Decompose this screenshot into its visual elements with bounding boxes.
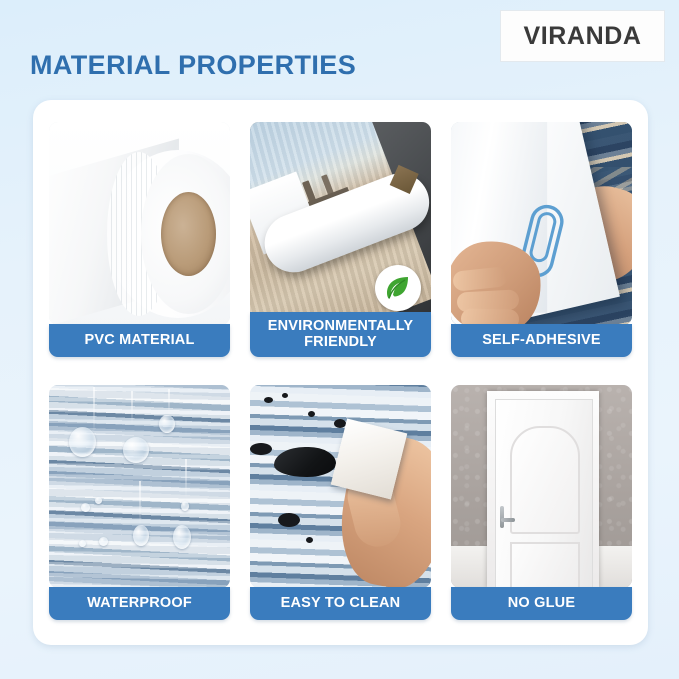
feature-label-pvc-material: PVC MATERIAL <box>49 324 230 357</box>
feature-tile-waterproof[interactable]: WATERPROOF <box>49 385 230 620</box>
wiping-cloth-image <box>250 385 431 588</box>
feature-tile-environmentally-friendly[interactable]: ENVIRONMENTALLY FRIENDLY <box>250 122 431 357</box>
door-handle-icon <box>500 506 504 528</box>
water-droplets-image <box>49 385 230 588</box>
feature-label-self-adhesive: SELF-ADHESIVE <box>451 324 632 357</box>
feature-label-environmentally-friendly: ENVIRONMENTALLY FRIENDLY <box>250 312 431 357</box>
leaf-icon <box>383 273 413 303</box>
feature-label-text: ENVIRONMENTALLY FRIENDLY <box>250 319 431 349</box>
green-leaf-badge <box>375 265 421 311</box>
feature-tile-pvc-material[interactable]: PVC MATERIAL <box>49 122 230 357</box>
promo-infographic: VIRANDA MATERIAL PROPERTIES PVC MATERIAL <box>0 0 679 679</box>
feature-label-text: EASY TO CLEAN <box>281 596 401 611</box>
peeling-backing-image <box>451 122 632 325</box>
feature-tile-self-adhesive[interactable]: SELF-ADHESIVE <box>451 122 632 357</box>
feature-label-text: PVC MATERIAL <box>84 333 194 348</box>
brand-logo-box: VIRANDA <box>500 10 665 62</box>
features-grid: PVC MATERIAL <box>49 122 632 622</box>
white-door-image <box>451 385 632 588</box>
feature-label-easy-to-clean: EASY TO CLEAN <box>250 587 431 620</box>
feature-tile-no-glue[interactable]: NO GLUE <box>451 385 632 620</box>
feature-label-waterproof: WATERPROOF <box>49 587 230 620</box>
page-title: MATERIAL PROPERTIES <box>30 50 356 81</box>
brand-name: VIRANDA <box>523 22 641 51</box>
feature-tile-easy-to-clean[interactable]: EASY TO CLEAN <box>250 385 431 620</box>
feature-label-text: NO GLUE <box>508 596 575 611</box>
feature-label-no-glue: NO GLUE <box>451 587 632 620</box>
rolled-print-image <box>250 122 431 325</box>
pvc-roll-image <box>49 122 230 325</box>
feature-label-text: SELF-ADHESIVE <box>482 333 601 348</box>
door <box>495 399 593 588</box>
feature-label-text: WATERPROOF <box>87 596 192 611</box>
